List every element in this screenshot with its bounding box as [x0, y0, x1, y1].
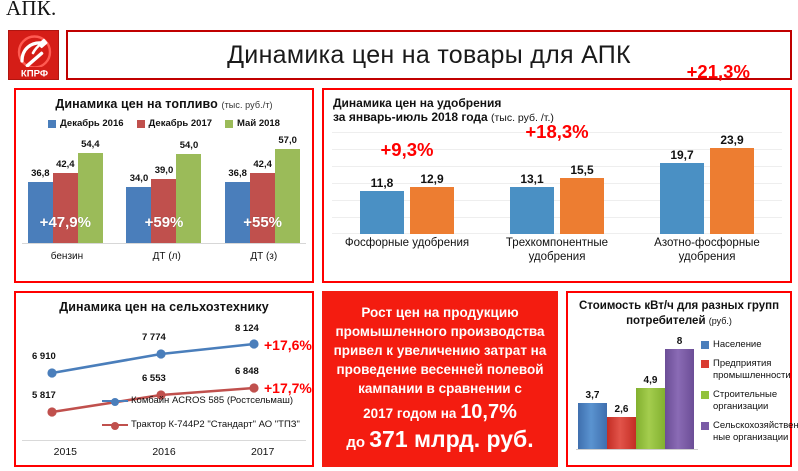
- legend-label: Декабрь 2017: [149, 118, 213, 129]
- category-label: ДТ (л): [153, 251, 181, 262]
- note-text: Рост цен на продукцию промышленного прои…: [324, 293, 556, 465]
- bar-value: 2,6: [615, 404, 629, 415]
- fertilizer-bar: 13,1: [510, 187, 554, 234]
- fuel-growth-label: +47,9%: [40, 214, 91, 231]
- fuel-bar-groups: 36,8 42,4 54,4 +47,9% 34,0 39,0 54,0 +59…: [16, 140, 312, 243]
- fuel-bar: 36,8: [225, 182, 250, 243]
- legend-item: Май 2018: [225, 118, 280, 129]
- panel-fertilizer-prices: Динамика цен на удобрения за январь-июль…: [322, 88, 792, 283]
- fuel-group-2: 36,8 42,4 57,0 +55%: [225, 149, 300, 243]
- fertilizer-category-labels: Фосфорные удобрения Трехкомпонентные удо…: [332, 236, 782, 271]
- machinery-axis-line: [22, 440, 306, 441]
- electricity-bar: 2,6: [607, 417, 636, 449]
- electricity-bar: 3,7: [578, 403, 607, 449]
- fertilizer-group-2: 19,7 23,9 +21,3%: [660, 148, 754, 234]
- legend-item: Предприятияпромышленности: [701, 358, 786, 382]
- fuel-growth-label: +59%: [145, 214, 184, 231]
- legend-label: Май 2018: [237, 118, 280, 129]
- fertilizer-bar: 23,9: [710, 148, 754, 234]
- fertilizer-title-line2: за январь-июль 2018 года: [333, 110, 488, 124]
- bar-value: 15,5: [570, 163, 593, 177]
- machinery-growth-label: +17,6%: [264, 337, 312, 353]
- panel-cost-increase-note: Рост цен на продукцию промышленного прои…: [322, 291, 558, 467]
- fuel-bar: 42,4: [250, 173, 275, 243]
- electricity-bar: 8: [665, 349, 694, 449]
- legend-swatch: [137, 120, 145, 128]
- fuel-bar: 39,0: [151, 179, 176, 243]
- legend-label: Трактор К-744Р2 "Стандарт" АО "ТПЗ": [131, 419, 300, 430]
- legend-item: Декабрь 2017: [137, 118, 213, 129]
- fuel-bar: 42,4: [53, 173, 78, 243]
- fertilizer-bar: 12,9: [410, 187, 454, 234]
- panel-machinery-prices: Динамика цен на сельхозтехнику 6 910 7 7…: [14, 291, 314, 467]
- top-text-fragment: АПК.: [6, 0, 56, 21]
- fertilizer-chart-title: Динамика цен на удобрения за январь-июль…: [333, 96, 790, 124]
- note-percent-value: 10,7%: [460, 401, 517, 423]
- bar-value: 12,9: [420, 172, 443, 186]
- bar-value: 13,1: [520, 172, 543, 186]
- fertilizer-growth-label: +18,3%: [525, 121, 588, 143]
- fertilizer-bar-groups: 11,8 12,9 +9,3% 13,1 15,5 +18,3% 19,7 23…: [332, 140, 782, 234]
- legend-marker: [102, 420, 128, 429]
- note-line: кампании в сравнении с: [358, 379, 522, 398]
- electricity-plot-area: 3,7 2,6 4,9 8 Население Предприятияпромы…: [568, 329, 790, 457]
- fuel-title-unit: (тыс. руб./т): [221, 100, 272, 110]
- bar-value: 42,4: [253, 159, 272, 170]
- legend-item: Комбайн ACROS 585 (Ростсельмаш): [102, 395, 300, 406]
- legend-swatch: [701, 341, 709, 349]
- fertilizer-bar: 15,5: [560, 178, 604, 234]
- category-label: 2016: [115, 446, 214, 458]
- electricity-chart-title: Стоимость кВт/ч для разных групп потреби…: [568, 299, 790, 329]
- bar-value: 36,8: [31, 168, 50, 179]
- machinery-legend: Комбайн ACROS 585 (Ростсельмаш) Трактор …: [102, 395, 300, 443]
- machinery-point-label: 7 774: [142, 332, 166, 343]
- fuel-group-0: 36,8 42,4 54,4 +47,9%: [28, 153, 103, 243]
- fertilizer-growth-label: +9,3%: [381, 139, 434, 161]
- fertilizer-bar: 19,7: [660, 163, 704, 234]
- bar-value: 54,0: [180, 140, 199, 151]
- legend-label: Предприятияпромышленности: [713, 358, 791, 382]
- machinery-point-label: 5 817: [32, 390, 56, 401]
- note-line: проведение весенней полевой: [336, 360, 543, 379]
- legend-label: Строительныеорганизации: [713, 389, 777, 413]
- legend-item: Население: [701, 339, 786, 351]
- hammer-and-sickle-icon: КПРФ: [9, 31, 59, 80]
- fertilizer-growth-label: +21,3%: [687, 61, 750, 83]
- bar-value: 57,0: [278, 135, 297, 146]
- bar-value: 11,8: [371, 176, 394, 190]
- legend-label: Сельскохозяйственные организации: [713, 420, 798, 444]
- legend-item: Трактор К-744Р2 "Стандарт" АО "ТПЗ": [102, 419, 300, 430]
- machinery-category-labels: 2015 2016 2017: [16, 446, 312, 458]
- machinery-point-label: 6 553: [142, 373, 166, 384]
- fuel-group-1: 34,0 39,0 54,0 +59%: [126, 154, 201, 243]
- fuel-growth-label: +55%: [243, 214, 282, 231]
- bar-value: 3,7: [586, 390, 600, 401]
- machinery-point-label: 6 848: [235, 366, 259, 377]
- category-label: ДТ (з): [250, 251, 277, 262]
- fertilizer-bar: 11,8: [360, 191, 404, 234]
- note-line-value-2: до 371 млрд. руб.: [346, 427, 533, 455]
- slide-root: АПК. КПРФ Динамика цен на товары для АПК…: [0, 0, 798, 471]
- electricity-bar: 4,9: [636, 388, 665, 449]
- legend-label: Комбайн ACROS 585 (Ростсельмаш): [131, 395, 293, 406]
- legend-label: Декабрь 2016: [60, 118, 124, 129]
- slide-header: Динамика цен на товары для АПК: [66, 30, 792, 80]
- panel-fuel-prices: Динамика цен на топливо (тыс. руб./т) Де…: [14, 88, 314, 283]
- bar-value: 23,9: [720, 133, 743, 147]
- fertilizer-group-0: 11,8 12,9 +9,3%: [360, 187, 454, 234]
- machinery-point-label: 6 910: [32, 351, 56, 362]
- machinery-growth-label: +17,7%: [264, 380, 312, 396]
- machinery-plot-area: 6 910 7 774 8 124 5 817 6 553 6 848 +17,…: [16, 315, 312, 461]
- legend-item: Сельскохозяйственные организации: [701, 420, 786, 444]
- fuel-title-text: Динамика цен на топливо: [55, 97, 218, 111]
- fertilizer-group-1: 13,1 15,5 +18,3%: [510, 178, 604, 234]
- note-line-value-1: 2017 годом на 10,7%: [363, 399, 517, 427]
- bar-value: 34,0: [130, 173, 149, 184]
- bar-value: 19,7: [670, 148, 693, 162]
- legend-swatch: [701, 391, 709, 399]
- electricity-legend: Население Предприятияпромышленности Стро…: [701, 339, 786, 451]
- legend-item: Строительныеорганизации: [701, 389, 786, 413]
- legend-item: Декабрь 2016: [48, 118, 124, 129]
- fertilizer-title-line1: Динамика цен на удобрения: [333, 96, 790, 110]
- panel-electricity-cost: Стоимость кВт/ч для разных групп потреби…: [566, 291, 792, 467]
- category-label: Фосфорные удобрения: [332, 236, 482, 271]
- fuel-bar: 36,8: [28, 182, 53, 243]
- bar-value: 4,9: [644, 375, 658, 386]
- electricity-axis-line: [576, 449, 698, 450]
- legend-label: Население: [713, 339, 762, 351]
- fuel-axis-line: [22, 243, 306, 244]
- machinery-chart-title: Динамика цен на сельхозтехнику: [16, 300, 312, 314]
- legend-swatch: [701, 422, 709, 430]
- fuel-category-labels: бензин ДТ (л) ДТ (з): [16, 251, 312, 262]
- electricity-title-text: Стоимость кВт/ч для разных групп потреби…: [579, 300, 779, 327]
- category-label: Азотно-фосфорные удобрения: [632, 236, 782, 271]
- note-line: промышленного производства: [335, 322, 544, 341]
- fuel-plot-area: 36,8 42,4 54,4 +47,9% 34,0 39,0 54,0 +59…: [16, 131, 312, 264]
- machinery-point-label: 8 124: [235, 323, 259, 334]
- fuel-chart-title: Динамика цен на топливо (тыс. руб./т): [16, 97, 312, 111]
- note-line: Рост цен на продукцию: [361, 303, 518, 322]
- fuel-legend: Декабрь 2016 Декабрь 2017 Май 2018: [16, 118, 312, 129]
- note-amount-value: 371 млрд. руб.: [369, 426, 533, 452]
- electricity-bars: 3,7 2,6 4,9 8: [578, 337, 694, 449]
- page-title: Динамика цен на товары для АПК: [227, 41, 631, 70]
- category-label: Трехкомпонентные удобрения: [482, 236, 632, 271]
- bar-value: 54,4: [81, 139, 100, 150]
- bar-value: 36,8: [228, 168, 247, 179]
- fertilizer-plot-area: 11,8 12,9 +9,3% 13,1 15,5 +18,3% 19,7 23…: [324, 126, 790, 271]
- category-label: 2015: [16, 446, 115, 458]
- category-label: бензин: [51, 251, 83, 262]
- bar-value: 39,0: [155, 165, 174, 176]
- legend-marker: [102, 396, 128, 405]
- legend-swatch: [701, 360, 709, 368]
- legend-swatch: [48, 120, 56, 128]
- note-line: привел к увеличению затрат на: [334, 341, 547, 360]
- legend-swatch: [225, 120, 233, 128]
- electricity-title-unit: (руб.): [709, 316, 732, 326]
- bar-value: 42,4: [56, 159, 75, 170]
- category-label: 2017: [213, 446, 312, 458]
- svg-text:КПРФ: КПРФ: [21, 68, 48, 79]
- kprf-logo: КПРФ: [8, 30, 59, 80]
- bar-value: 8: [677, 336, 683, 347]
